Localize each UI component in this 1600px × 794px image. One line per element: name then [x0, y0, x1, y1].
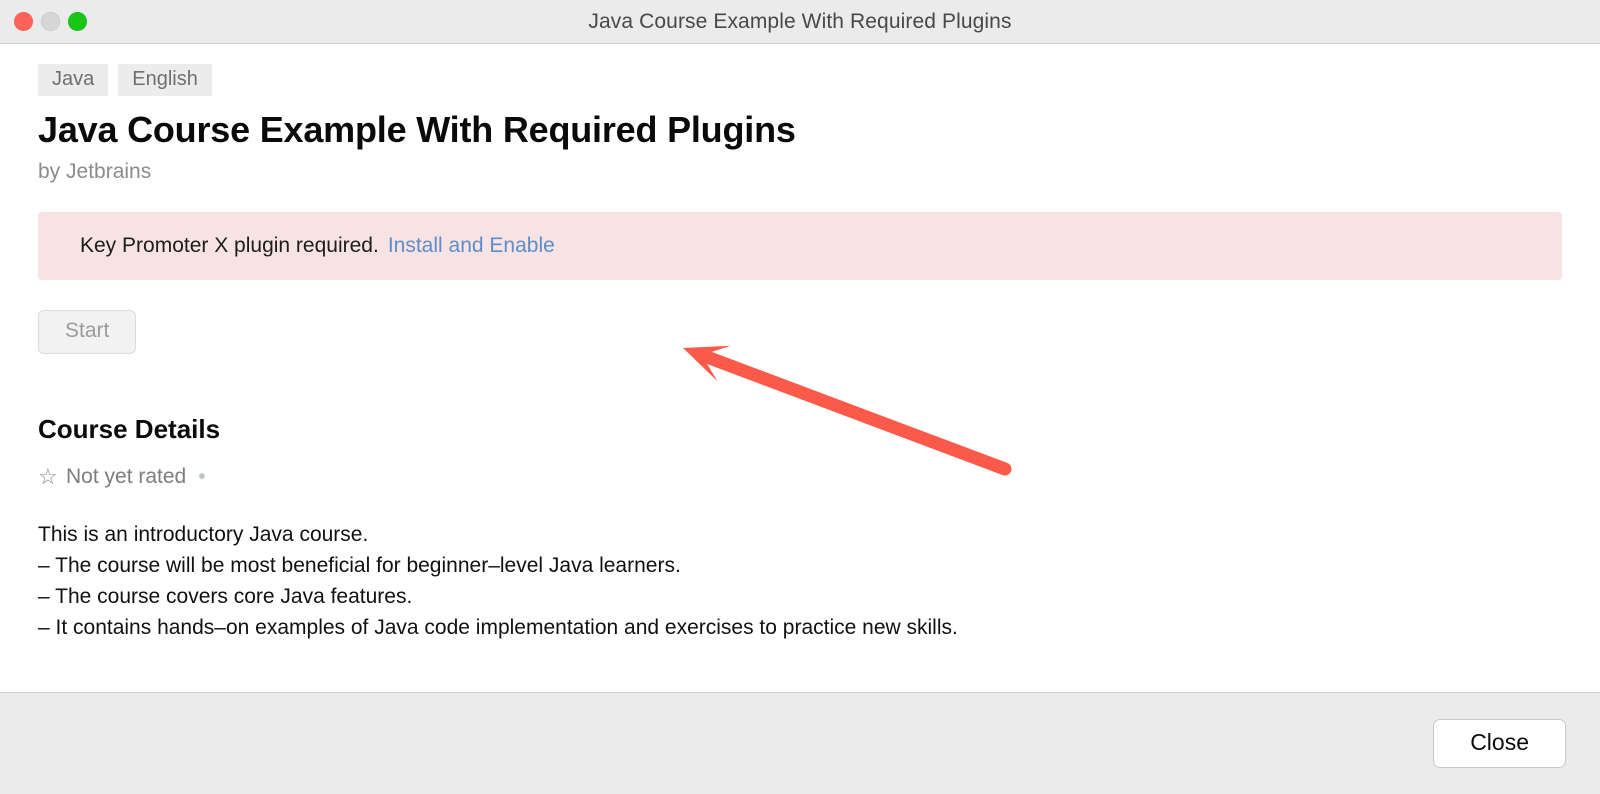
install-and-enable-link[interactable]: Install and Enable	[388, 234, 555, 258]
minimize-window-icon[interactable]	[41, 12, 60, 31]
plugin-required-banner: Key Promoter X plugin required. Install …	[38, 212, 1562, 280]
course-tags: Java English	[0, 44, 1600, 96]
description-line: – It contains hands–on examples of Java …	[38, 612, 1600, 643]
zoom-window-icon[interactable]	[68, 12, 87, 31]
course-title: Java Course Example With Required Plugin…	[38, 110, 1600, 150]
dialog-footer: Close	[0, 692, 1600, 794]
tag-locale-english[interactable]: English	[118, 64, 212, 96]
description-line: – The course will be most beneficial for…	[38, 550, 1600, 581]
window-traffic-lights	[14, 0, 87, 43]
description-line: – The course covers core Java features.	[38, 581, 1600, 612]
course-details-heading: Course Details	[38, 414, 1600, 445]
course-rating-row: ☆ Not yet rated •	[38, 465, 1600, 489]
annotation-arrow	[683, 346, 1005, 469]
description-line: This is an introductory Java course.	[38, 519, 1600, 550]
tag-language-java[interactable]: Java	[38, 64, 108, 96]
close-button[interactable]: Close	[1433, 719, 1566, 768]
course-dialog-window: Java Course Example With Required Plugin…	[0, 0, 1600, 794]
dialog-content: Java English Java Course Example With Re…	[0, 44, 1600, 692]
window-titlebar: Java Course Example With Required Plugin…	[0, 0, 1600, 44]
rating-separator-dot: •	[198, 465, 205, 489]
window-title: Java Course Example With Required Plugin…	[588, 10, 1011, 34]
close-window-icon[interactable]	[14, 12, 33, 31]
plugin-required-message: Key Promoter X plugin required.	[80, 234, 379, 258]
course-author: by Jetbrains	[38, 160, 1600, 184]
start-button-row: Start	[38, 310, 1600, 354]
start-button[interactable]: Start	[38, 310, 136, 354]
course-description: This is an introductory Java course. – T…	[38, 519, 1600, 643]
star-outline-icon: ☆	[38, 467, 58, 487]
rating-text: Not yet rated	[66, 465, 186, 489]
